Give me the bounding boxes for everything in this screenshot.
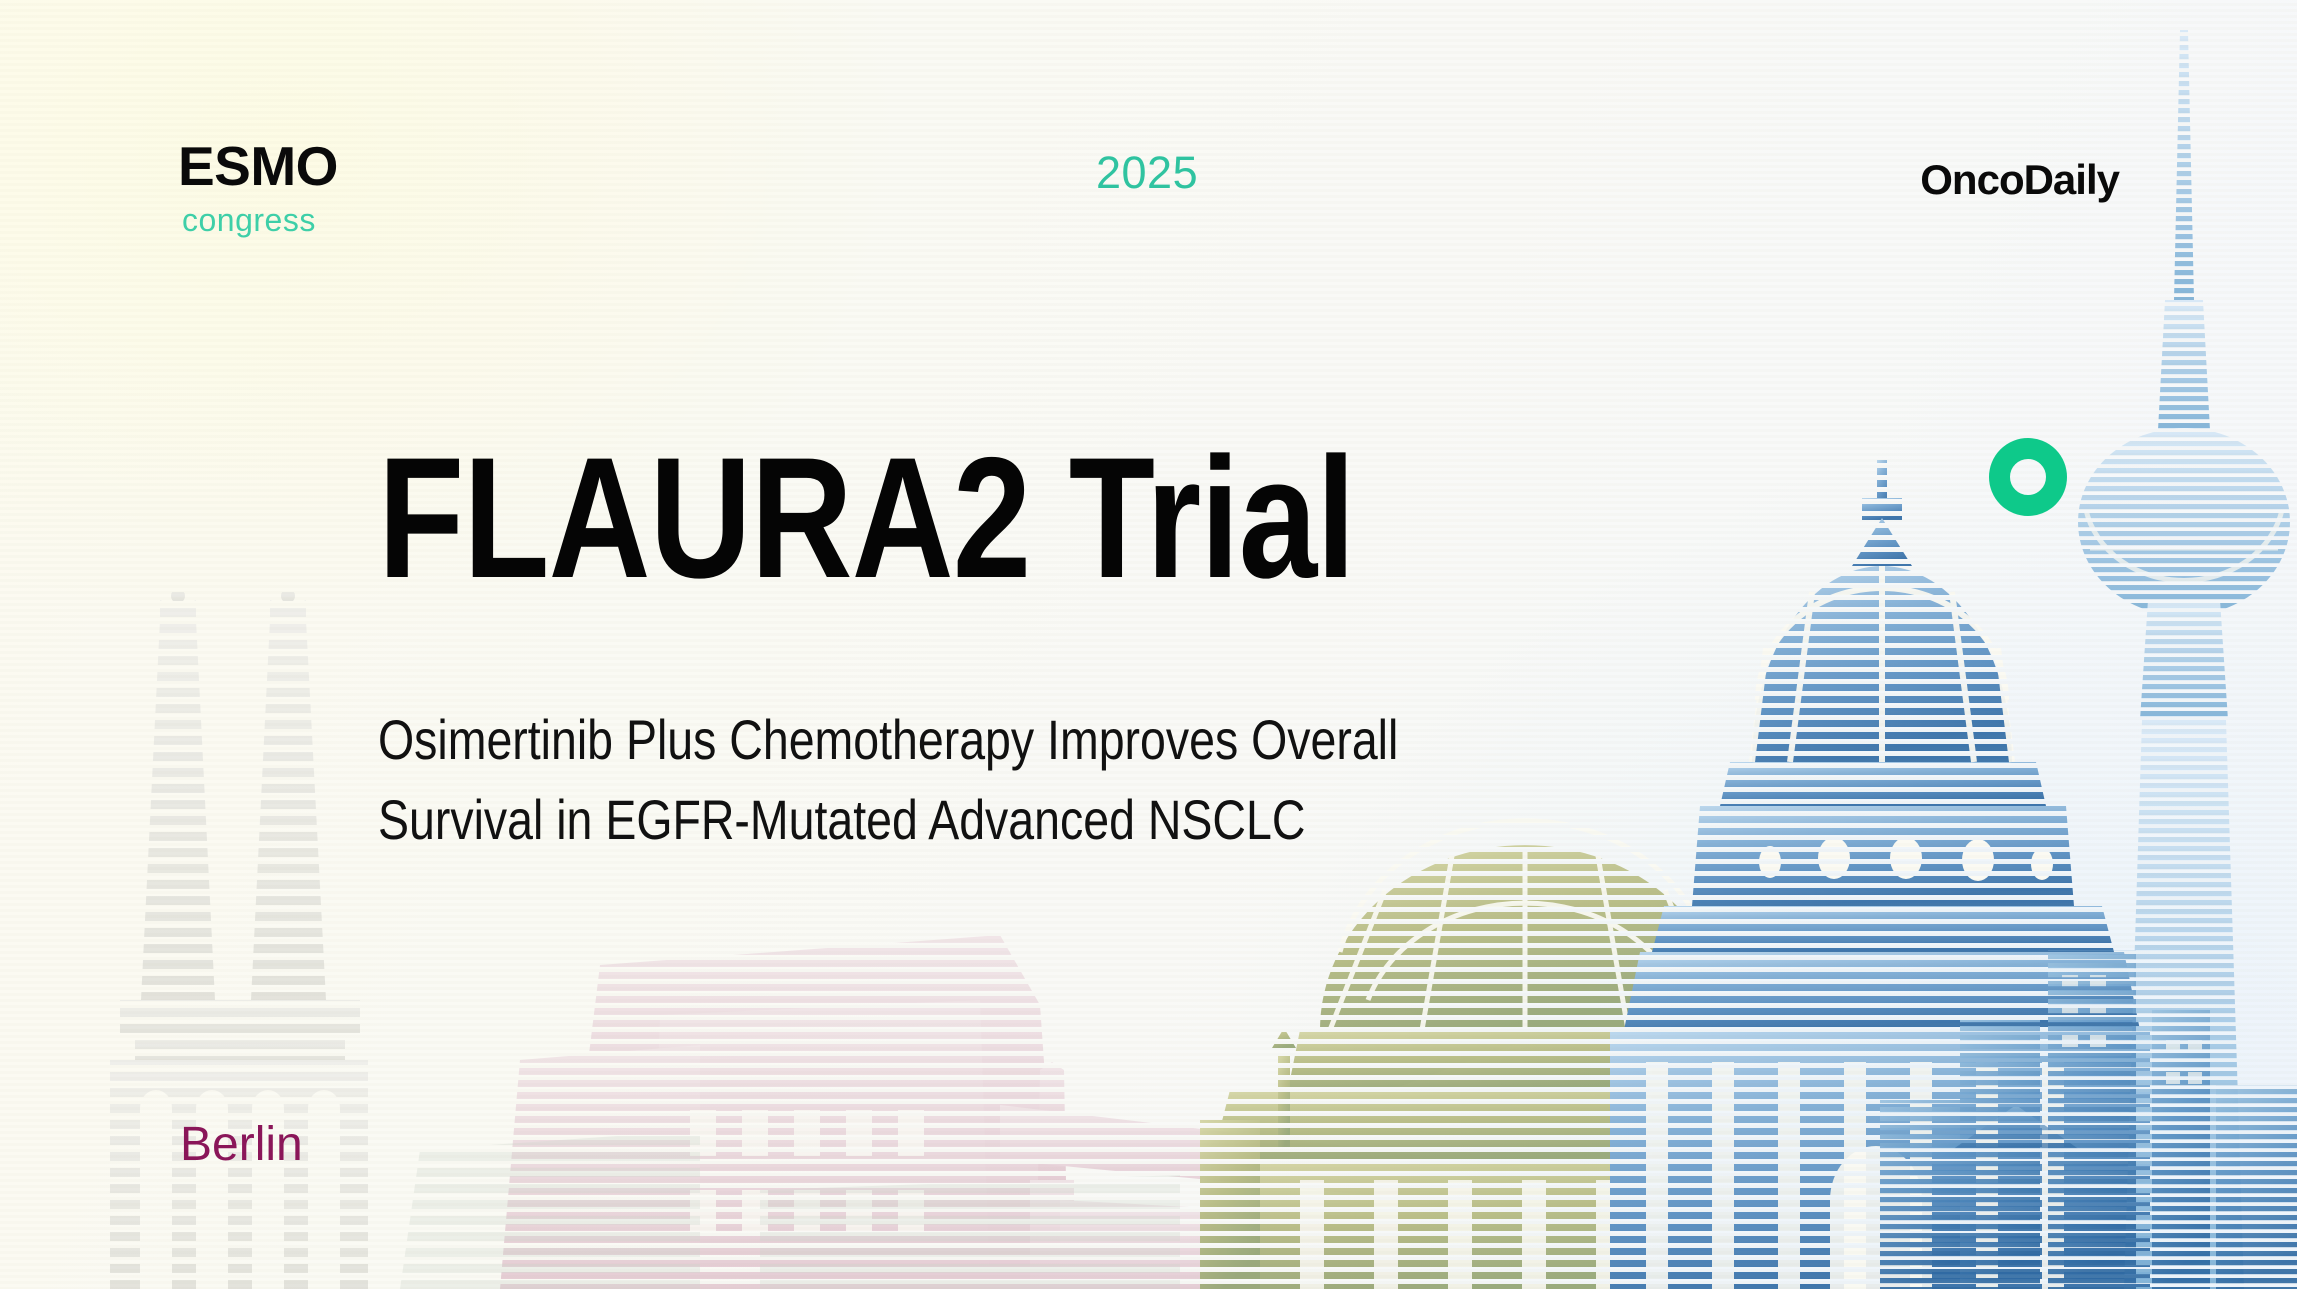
esmo-congress-sublabel: congress	[182, 202, 338, 239]
subtitle-line-2: Survival in EGFR-Mutated Advanced NSCLC	[378, 780, 1398, 860]
page-subtitle: Osimertinib Plus Chemotherapy Improves O…	[378, 700, 1398, 859]
esmo-congress-logo: ESMO congress	[178, 140, 338, 239]
city-label: Berlin	[180, 1117, 303, 1172]
esmo-wordmark: ESMO	[178, 140, 338, 192]
oncodaily-logo: OncoDaily	[1920, 156, 2119, 204]
nikolaikirche-twin-spires	[110, 589, 368, 1289]
page-title: FLAURA2 Trial	[378, 432, 1355, 604]
subtitle-line-1: Osimertinib Plus Chemotherapy Improves O…	[378, 700, 1398, 780]
poster-canvas: ESMO congress 2025 OncoDaily FLAURA2 Tri…	[0, 0, 2297, 1289]
congress-year: 2025	[1096, 147, 1198, 199]
green-ring-icon	[1989, 438, 2067, 516]
